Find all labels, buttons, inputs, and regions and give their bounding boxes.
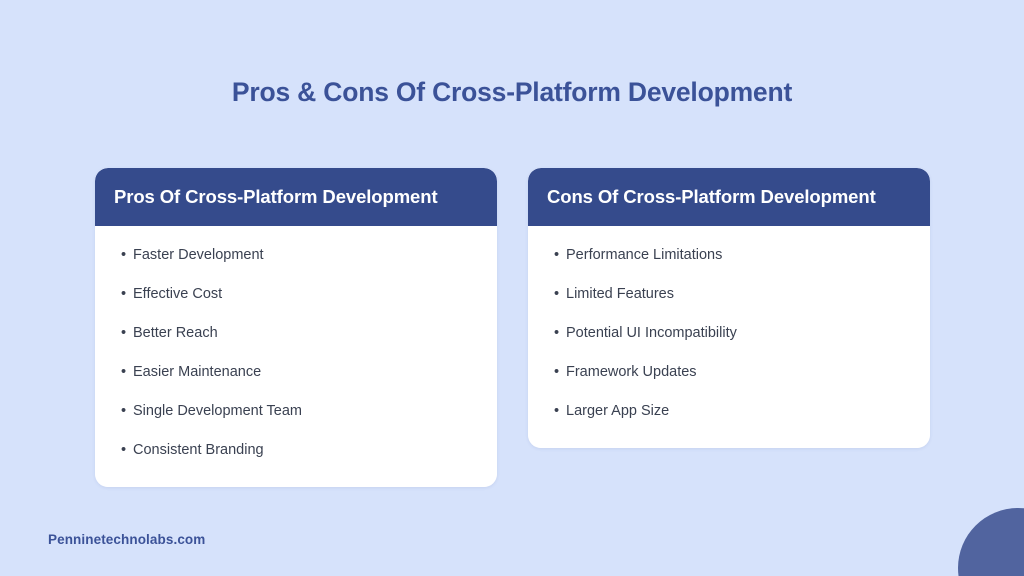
- pros-card-header: Pros Of Cross-Platform Development: [95, 168, 497, 226]
- bullet-icon: •: [554, 324, 566, 344]
- cons-list: • Performance Limitations • Limited Feat…: [554, 246, 914, 422]
- bullet-icon: •: [121, 363, 133, 383]
- pros-card: Pros Of Cross-Platform Development • Fas…: [95, 168, 497, 487]
- list-item-label: Limited Features: [566, 285, 914, 305]
- list-item-label: Performance Limitations: [566, 246, 914, 266]
- bullet-icon: •: [121, 324, 133, 344]
- list-item: • Faster Development: [121, 246, 481, 266]
- list-item: • Performance Limitations: [554, 246, 914, 266]
- cons-card: Cons Of Cross-Platform Development • Per…: [528, 168, 930, 448]
- list-item: • Potential UI Incompatibility: [554, 324, 914, 344]
- list-item: • Single Development Team: [121, 402, 481, 422]
- footer-brand: Penninetechnolabs.com: [48, 532, 205, 547]
- decorative-circle: [958, 508, 1024, 576]
- cards-container: Pros Of Cross-Platform Development • Fas…: [95, 168, 930, 487]
- bullet-icon: •: [121, 285, 133, 305]
- list-item-label: Consistent Branding: [133, 441, 481, 461]
- cons-card-header-title: Cons Of Cross-Platform Development: [547, 186, 876, 208]
- list-item: • Framework Updates: [554, 363, 914, 383]
- bullet-icon: •: [554, 363, 566, 383]
- list-item: • Consistent Branding: [121, 441, 481, 461]
- list-item: • Easier Maintenance: [121, 363, 481, 383]
- list-item-label: Potential UI Incompatibility: [566, 324, 914, 344]
- page-title: Pros & Cons Of Cross-Platform Developmen…: [0, 76, 1024, 109]
- list-item-label: Faster Development: [133, 246, 481, 266]
- bullet-icon: •: [554, 246, 566, 266]
- pros-card-header-title: Pros Of Cross-Platform Development: [114, 186, 438, 208]
- cons-card-body: • Performance Limitations • Limited Feat…: [528, 226, 930, 448]
- list-item-label: Easier Maintenance: [133, 363, 481, 383]
- bullet-icon: •: [121, 441, 133, 461]
- list-item: • Larger App Size: [554, 402, 914, 422]
- bullet-icon: •: [554, 402, 566, 422]
- bullet-icon: •: [121, 402, 133, 422]
- pros-card-body: • Faster Development • Effective Cost • …: [95, 226, 497, 487]
- list-item-label: Larger App Size: [566, 402, 914, 422]
- cons-card-header: Cons Of Cross-Platform Development: [528, 168, 930, 226]
- bullet-icon: •: [121, 246, 133, 266]
- pros-list: • Faster Development • Effective Cost • …: [121, 246, 481, 461]
- list-item-label: Better Reach: [133, 324, 481, 344]
- list-item: • Effective Cost: [121, 285, 481, 305]
- slide-canvas: Pros & Cons Of Cross-Platform Developmen…: [0, 0, 1024, 576]
- bullet-icon: •: [554, 285, 566, 305]
- list-item-label: Framework Updates: [566, 363, 914, 383]
- list-item-label: Single Development Team: [133, 402, 481, 422]
- list-item: • Better Reach: [121, 324, 481, 344]
- list-item: • Limited Features: [554, 285, 914, 305]
- list-item-label: Effective Cost: [133, 285, 481, 305]
